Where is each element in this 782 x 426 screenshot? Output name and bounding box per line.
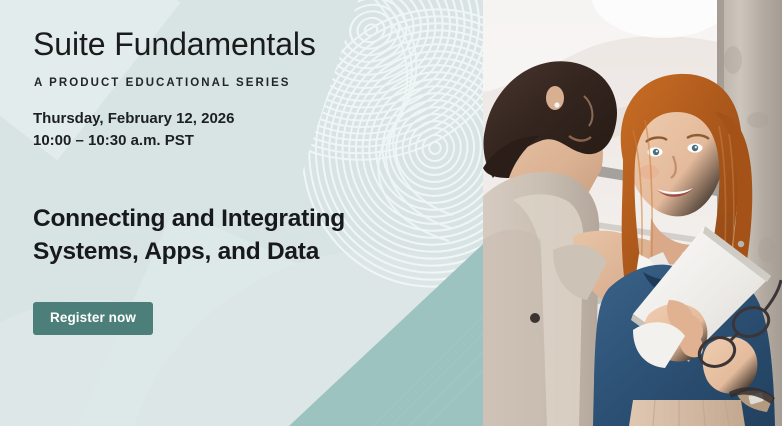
event-time: 10:00 – 10:30 a.m. PST [33,130,234,152]
hero-photo [483,0,782,426]
event-date: Thursday, February 12, 2026 [33,108,234,130]
register-now-button[interactable]: Register now [33,302,153,335]
text-content-block: Suite Fundamentals A PRODUCT EDUCATIONAL… [33,0,453,426]
session-headline: Connecting and Integrating Systems, Apps… [33,202,433,268]
page-title: Suite Fundamentals [33,27,316,62]
left-content-panel: Suite Fundamentals A PRODUCT EDUCATIONAL… [0,0,483,426]
series-kicker: A PRODUCT EDUCATIONAL SERIES [34,77,291,89]
event-datetime: Thursday, February 12, 2026 10:00 – 10:3… [33,108,234,152]
webinar-promo-banner: Suite Fundamentals A PRODUCT EDUCATIONAL… [0,0,782,426]
